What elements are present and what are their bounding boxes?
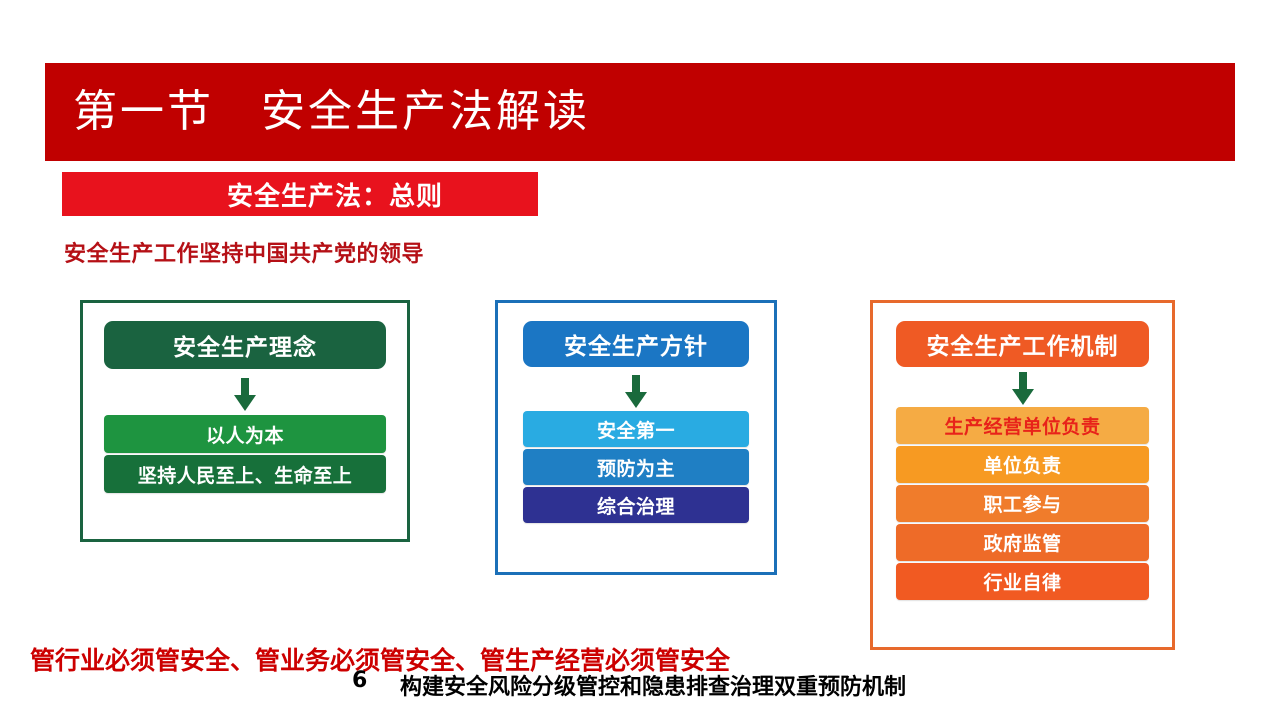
page-number: 6	[352, 668, 367, 693]
stack-row: 以人为本	[104, 415, 386, 453]
stack-row: 综合治理	[523, 487, 749, 523]
section-banner-label: 安全生产法：总则	[157, 176, 443, 213]
stack-row: 预防为主	[523, 449, 749, 485]
stack-mechanism: 生产经营单位负责 单位负责 职工参与 政府监管 行业自律	[896, 407, 1149, 600]
stack-row: 坚持人民至上、生命至上	[104, 455, 386, 493]
stack-concept: 以人为本 坚持人民至上、生命至上	[104, 415, 386, 493]
subheading-text: 安全生产工作坚持中国共产党的领导	[64, 236, 424, 268]
stack-row: 单位负责	[896, 446, 1149, 483]
stack-row: 生产经营单位负责	[896, 407, 1149, 444]
panel-header-mechanism: 安全生产工作机制	[896, 321, 1149, 367]
panel-header-concept: 安全生产理念	[104, 321, 386, 369]
arrow-down-icon	[1010, 372, 1036, 406]
panel-safety-policy: 安全生产方针 安全第一 预防为主 综合治理	[495, 300, 777, 575]
page-title: 第一节 安全生产法解读	[73, 90, 590, 134]
stack-row: 安全第一	[523, 411, 749, 447]
stack-row: 职工参与	[896, 485, 1149, 522]
stack-row: 政府监管	[896, 524, 1149, 561]
slide-title-bar: 第一节 安全生产法解读	[45, 63, 1235, 161]
panel-safety-mechanism: 安全生产工作机制 生产经营单位负责 单位负责 职工参与 政府监管 行业自律	[870, 300, 1175, 650]
stack-row: 行业自律	[896, 563, 1149, 600]
arrow-down-icon	[232, 378, 258, 412]
arrow-down-icon	[623, 375, 649, 409]
stack-policy: 安全第一 预防为主 综合治理	[523, 411, 749, 523]
panel-header-policy: 安全生产方针	[523, 321, 749, 367]
arrow-container-policy	[523, 373, 749, 411]
panel-safety-concept: 安全生产理念 以人为本 坚持人民至上、生命至上	[80, 300, 410, 542]
arrow-container-concept	[104, 375, 386, 415]
footer-subtext: 构建安全风险分级管控和隐患排查治理双重预防机制	[400, 669, 906, 701]
arrow-container-mechanism	[896, 371, 1149, 407]
section-banner: 安全生产法：总则	[62, 172, 538, 216]
